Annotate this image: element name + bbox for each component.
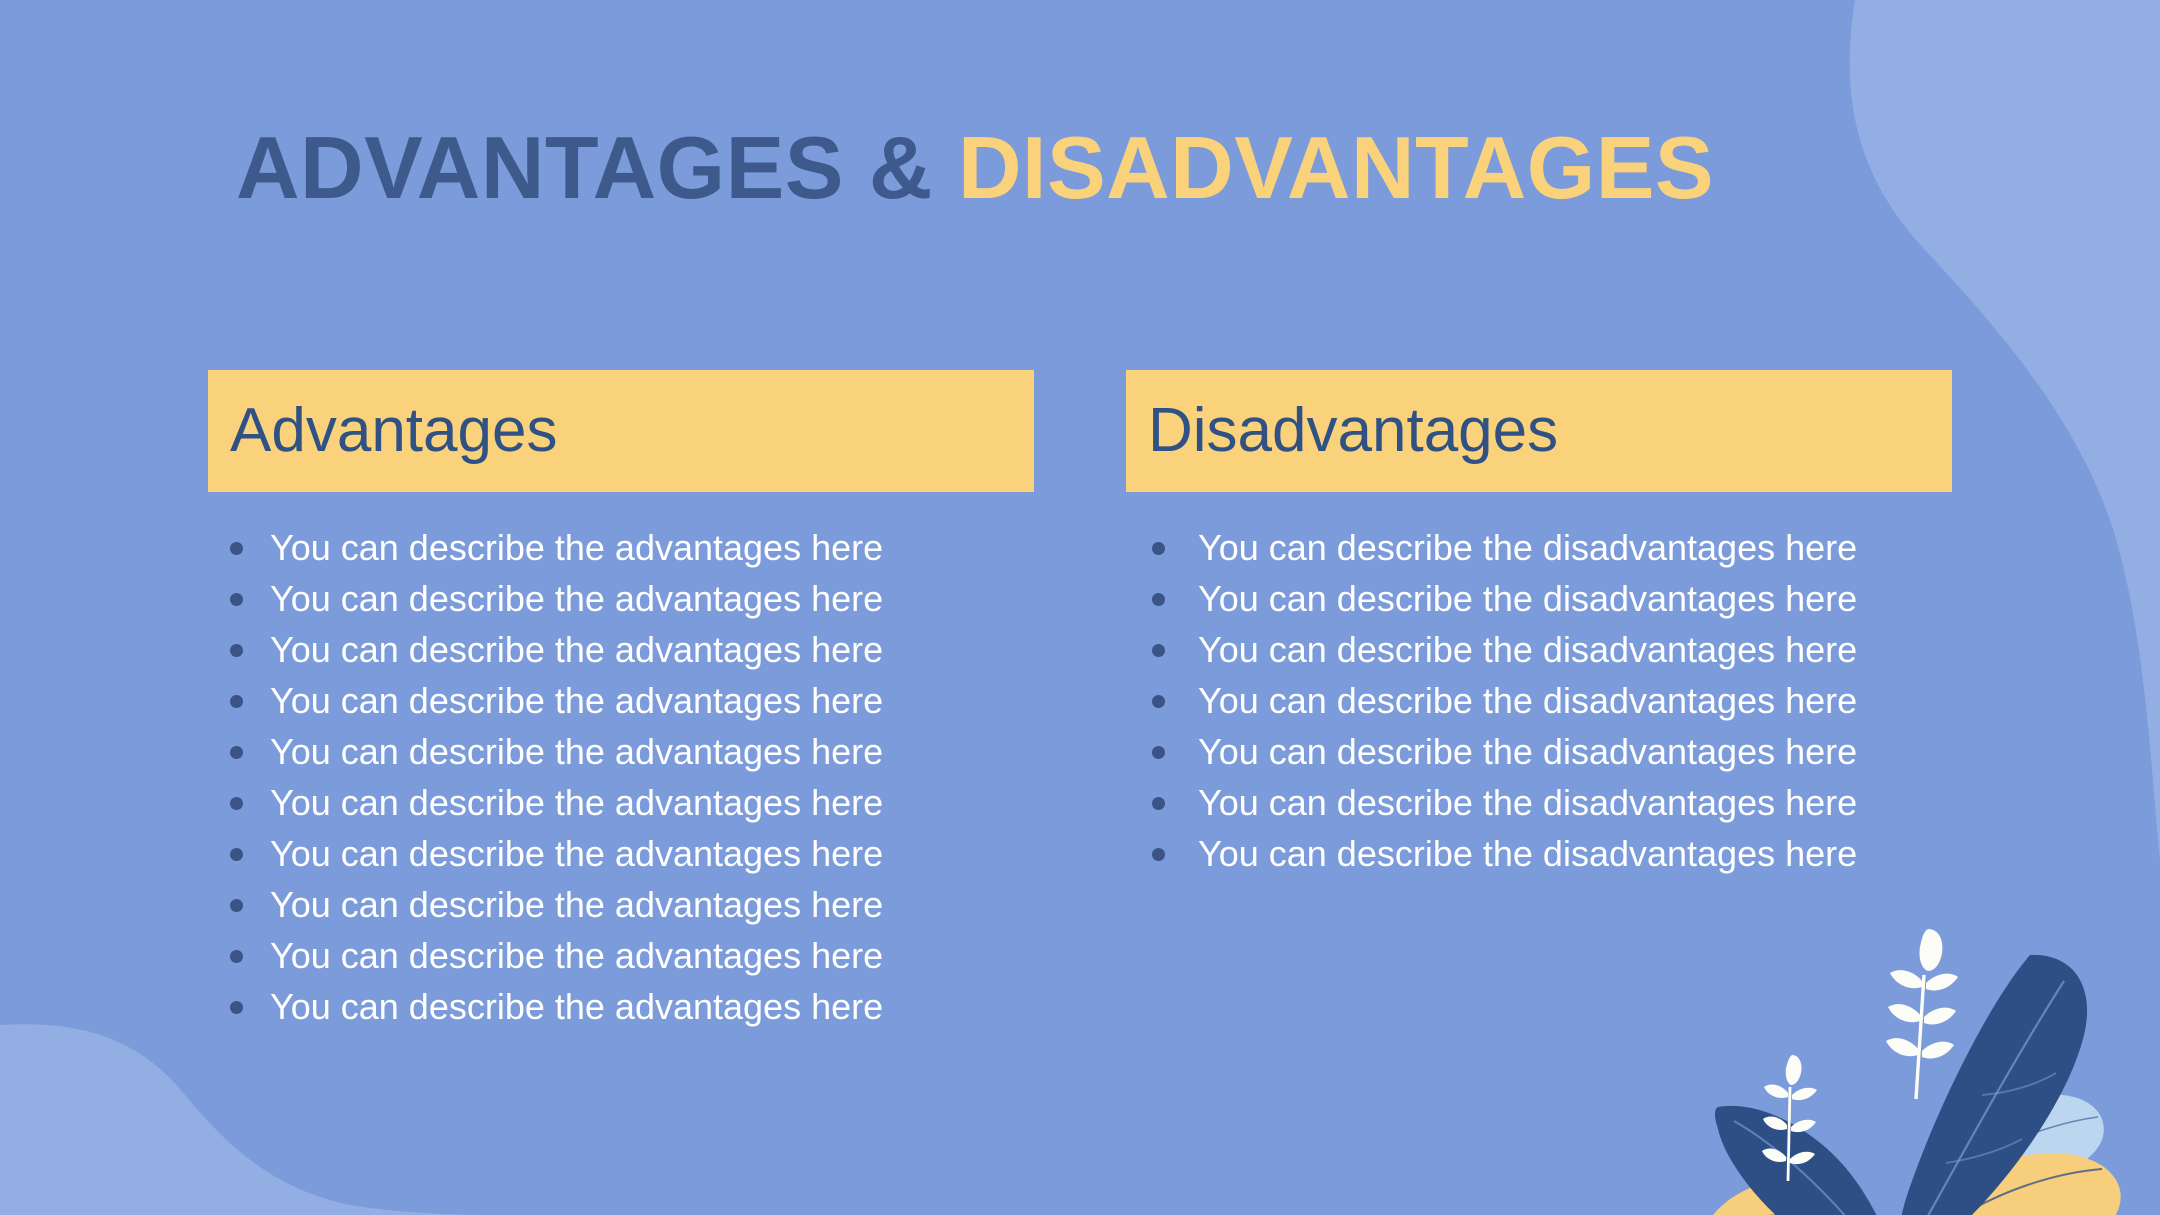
list-item-text: You can describe the disadvantages here [1198,629,1857,670]
list-item: You can describe the advantages here [208,726,1034,777]
bullet-dot-icon [1152,695,1165,708]
list-item: You can describe the disadvantages here [1126,675,1916,726]
bullet-dot-icon [1152,746,1165,759]
list-item: You can describe the disadvantages here [1126,726,1916,777]
list-item-text: You can describe the disadvantages here [1198,782,1857,823]
bullet-dot-icon [1152,644,1165,657]
list-item-text: You can describe the disadvantages here [1198,680,1857,721]
list-item: You can describe the disadvantages here [1126,828,1916,879]
bullet-dot-icon [230,695,243,708]
title-advantages-text: ADVANTAGES & [236,118,958,217]
list-item: You can describe the disadvantages here [1126,624,1916,675]
page-title: ADVANTAGES & DISADVANTAGES [236,124,1714,212]
list-item-text: You can describe the advantages here [270,629,883,670]
bullet-dot-icon [230,950,243,963]
bullet-dot-icon [1152,797,1165,810]
list-item: You can describe the advantages here [208,777,1034,828]
list-item-text: You can describe the advantages here [270,731,883,772]
list-item-text: You can describe the advantages here [270,935,883,976]
foliage-decoration-icon [1700,919,2160,1215]
list-item: You can describe the disadvantages here [1126,573,1916,624]
bullet-dot-icon [230,1001,243,1014]
column-header-advantages-label: Advantages [230,400,557,462]
list-item: You can describe the disadvantages here [1126,522,1916,573]
list-item-text: You can describe the disadvantages here [1198,833,1857,874]
sprig-white-short-icon [1762,1055,1817,1181]
sprig-white-tall-icon [1886,929,1958,1099]
column-advantages: Advantages You can describe the advantag… [208,370,1034,492]
list-item-text: You can describe the advantages here [270,578,883,619]
column-header-disadvantages: Disadvantages [1126,370,1952,492]
corner-blob-bottom-left-icon [0,1024,500,1215]
leaf-navy-center-icon [1900,955,2087,1215]
list-item: You can describe the advantages here [208,981,1034,1032]
column-disadvantages: Disadvantages You can describe the disad… [1126,370,1952,492]
advantages-list: You can describe the advantages here You… [208,522,1034,1032]
leaf-yellow-right-icon [1935,1153,2120,1215]
column-header-advantages: Advantages [208,370,1034,492]
bullet-dot-icon [230,797,243,810]
slide-canvas: ADVANTAGES & DISADVANTAGES Advantages Yo… [0,0,2160,1215]
leaf-yellow-left-icon [1707,1178,1876,1215]
bullet-dot-icon [230,848,243,861]
list-item: You can describe the disadvantages here [1126,777,1916,828]
list-item-text: You can describe the advantages here [270,986,883,1027]
bullet-dot-icon [1152,593,1165,606]
list-item: You can describe the advantages here [208,675,1034,726]
bullet-dot-icon [230,899,243,912]
bullet-dot-icon [1152,848,1165,861]
list-item: You can describe the advantages here [208,879,1034,930]
list-item: You can describe the advantages here [208,522,1034,573]
bullet-dot-icon [230,542,243,555]
list-item-text: You can describe the disadvantages here [1198,731,1857,772]
leaf-lightblue-icon [1991,1095,2104,1176]
list-item: You can describe the advantages here [208,828,1034,879]
title-disadvantages-text: DISADVANTAGES [958,118,1714,217]
column-header-disadvantages-label: Disadvantages [1148,400,1558,462]
list-item-text: You can describe the disadvantages here [1198,578,1857,619]
disadvantages-list: You can describe the disadvantages here … [1126,522,1952,879]
list-item: You can describe the advantages here [208,573,1034,624]
bullet-dot-icon [230,593,243,606]
list-item-text: You can describe the advantages here [270,884,883,925]
list-item-text: You can describe the advantages here [270,833,883,874]
bullet-dot-icon [230,644,243,657]
list-item-text: You can describe the disadvantages here [1198,527,1857,568]
bullet-dot-icon [230,746,243,759]
list-item: You can describe the advantages here [208,930,1034,981]
list-item-text: You can describe the advantages here [270,527,883,568]
list-item: You can describe the advantages here [208,624,1034,675]
bullet-dot-icon [1152,542,1165,555]
list-item-text: You can describe the advantages here [270,782,883,823]
list-item-text: You can describe the advantages here [270,680,883,721]
leaf-navy-left-icon [1715,1106,1890,1215]
